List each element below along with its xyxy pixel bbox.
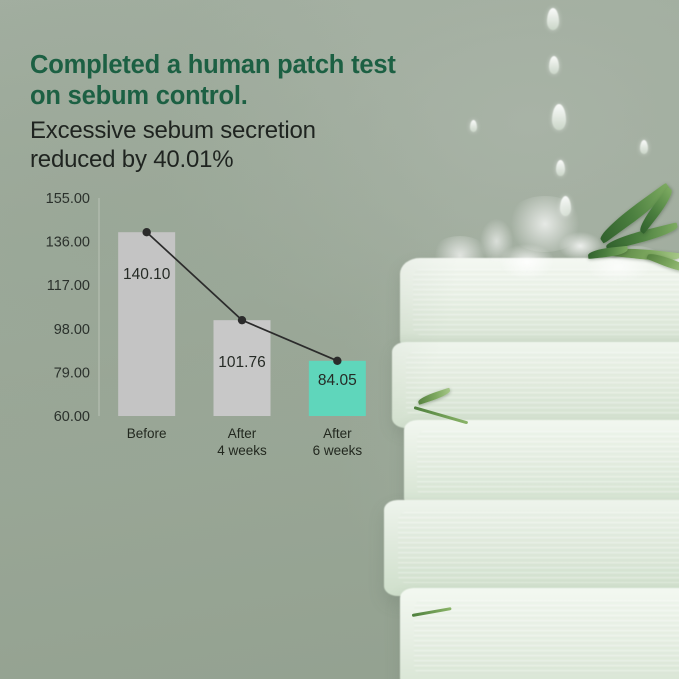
x-axis-tick-labels: BeforeAfter4 weeksAfter6 weeks (127, 426, 363, 458)
bar (118, 232, 175, 416)
x-axis-tick-label: After6 weeks (313, 426, 363, 458)
bar-value-label: 140.10 (123, 266, 171, 283)
infographic-root: Completed a human patch test on sebum co… (0, 0, 679, 679)
y-axis-tick-label: 155.00 (46, 191, 90, 207)
trend-line-marker (333, 357, 341, 365)
chart-canvas: 155.00136.00117.0098.0079.0060.00 140.10… (0, 0, 400, 480)
bar-value-label: 101.76 (218, 354, 265, 371)
y-axis-tick-labels: 155.00136.00117.0098.0079.0060.00 (46, 191, 90, 425)
y-axis-tick-label: 136.00 (46, 235, 90, 251)
x-axis-tick-label: Before (127, 426, 167, 441)
y-axis-tick-label: 60.00 (54, 409, 90, 425)
bar-value-label: 84.05 (318, 372, 357, 389)
sebum-reduction-chart: 155.00136.00117.0098.0079.0060.00 140.10… (0, 0, 400, 480)
trend-line-marker (142, 228, 150, 236)
y-axis-tick-label: 117.00 (47, 278, 90, 294)
y-axis-tick-label: 79.00 (54, 365, 90, 381)
x-axis-tick-label: After4 weeks (217, 426, 267, 458)
y-axis-tick-label: 98.00 (54, 322, 90, 338)
trend-line-marker (238, 316, 246, 324)
